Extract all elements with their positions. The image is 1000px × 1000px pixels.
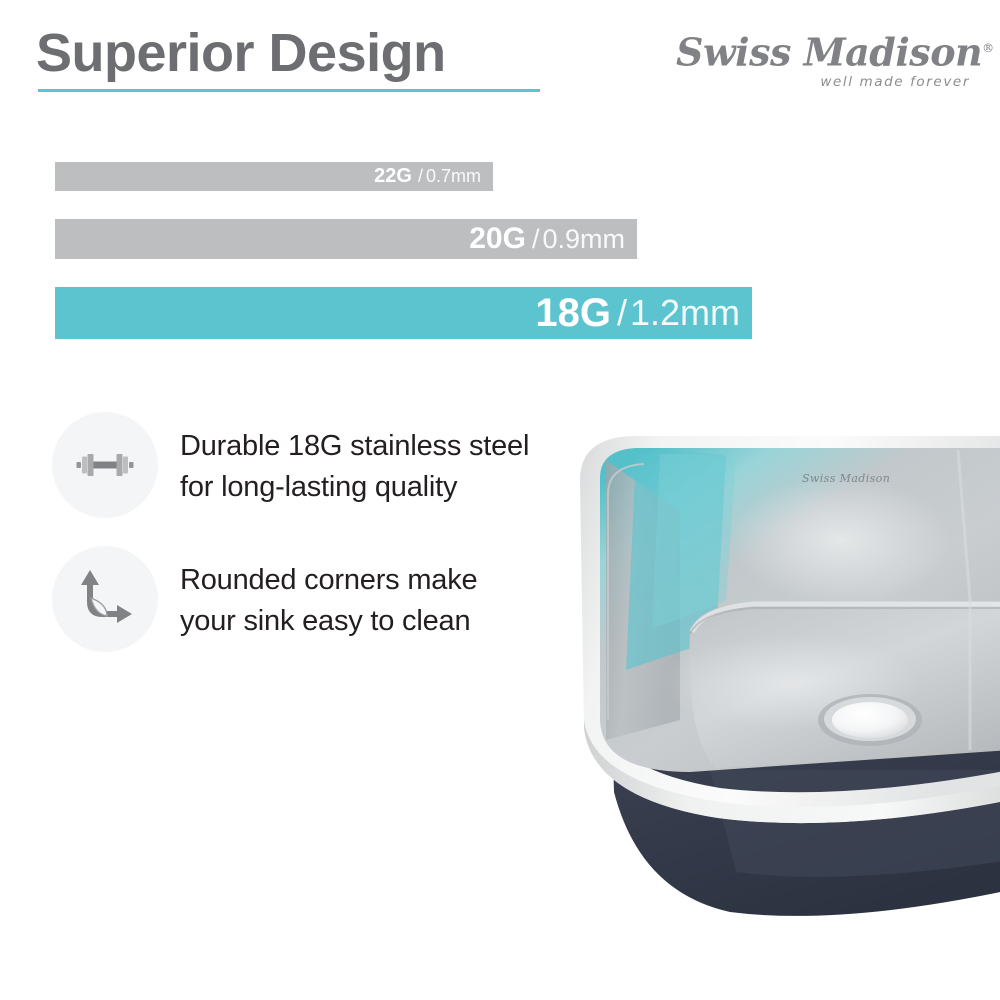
gauge-bar-22g: 22G / 0.7mm [55,162,493,191]
gauge-comparison-chart: 22G / 0.7mm 20G / 0.9mm 18G / 1.2mm [55,162,815,339]
feature-line-1: Durable 18G stainless steel [180,426,529,467]
gauge-row-20g: 20G / 0.9mm [55,219,815,259]
gauge-bar-18g: 18G / 1.2mm [55,287,752,339]
dumbbell-icon [52,412,158,518]
sink-basin: Swiss Madison [595,444,1000,780]
rounded-corner-arrow-glyph [74,568,136,630]
feature-line-2: for long-lasting quality [180,467,529,508]
brand-logo: Swiss Madison® well made forever [676,28,976,92]
feature-line-2: your sink easy to clean [180,601,477,642]
brand-tagline: well made forever [676,74,976,90]
rounded-corner-arrow-icon [52,546,158,652]
sink-drain [818,694,922,746]
gauge-thickness-20g: 0.9mm [542,224,625,255]
gauge-label-22g: 22G [374,165,412,188]
header: Superior Design Swiss Madison® well made… [0,0,1000,120]
gauge-thickness-22g: 0.7mm [426,166,481,187]
feature-text-durability: Durable 18G stainless steel for long-las… [180,412,529,508]
brand-name: Swiss Madison® [676,28,976,73]
gauge-separator-18g: / [617,292,627,334]
gauge-separator-22g: / [418,166,423,187]
basin-engraving: Swiss Madison [802,472,890,485]
gauge-separator-20g: / [532,224,540,255]
sink-illustration: Swiss Madison [540,420,1000,990]
title-underline-rule [38,89,540,92]
gauge-bar-20g: 20G / 0.9mm [55,219,637,259]
gauge-row-18g: 18G / 1.2mm [55,287,815,339]
dumbbell-glyph [72,445,138,485]
gauge-label-20g: 20G [469,222,526,256]
gauge-thickness-18g: 1.2mm [630,292,740,334]
product-image-sink: Swiss Madison [540,420,1000,990]
feature-item-rounded-corners: Rounded corners make your sink easy to c… [52,546,592,652]
feature-text-rounded-corners: Rounded corners make your sink easy to c… [180,546,477,642]
gauge-row-22g: 22G / 0.7mm [55,162,815,191]
feature-line-1: Rounded corners make [180,560,477,601]
feature-item-durability: Durable 18G stainless steel for long-las… [52,412,592,518]
feature-list: Durable 18G stainless steel for long-las… [52,412,592,680]
registered-trademark-icon: ® [982,41,994,55]
gauge-label-18g: 18G [535,291,611,336]
brand-name-text: Swiss Madison [676,30,982,75]
page-title: Superior Design [36,22,446,84]
